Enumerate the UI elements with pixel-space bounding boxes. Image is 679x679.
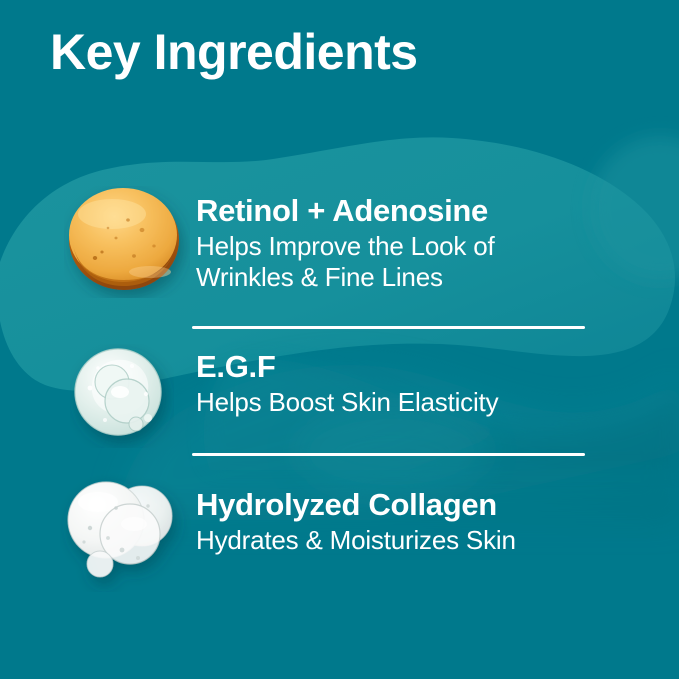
ingredient-text: Hydrolyzed Collagen Hydrates & Moisturiz… [196,488,616,556]
ingredient-text: Retinol + Adenosine Helps Improve the Lo… [196,194,616,294]
ingredient-name: E.G.F [196,350,616,385]
mint-gel-droplet-icon [70,344,174,448]
ingredient-list: Retinol + Adenosine Helps Improve the Lo… [0,0,679,679]
ingredient-description: Helps Improve the Look of Wrinkles & Fin… [196,231,616,294]
row-divider [192,453,585,456]
ingredient-text: E.G.F Helps Boost Skin Elasticity [196,350,616,418]
ingredient-description-line: Wrinkles & Fine Lines [196,262,443,292]
ingredient-swatch-clear-gel-droplet [60,472,192,597]
clear-gel-droplet-icon [60,472,192,592]
ingredient-description: Hydrates & Moisturizes Skin [196,525,616,557]
amber-gel-droplet-icon [64,186,190,298]
ingredient-swatch-amber-gel-droplet [64,186,190,303]
ingredient-name: Hydrolyzed Collagen [196,488,616,523]
ingredient-description-line: Helps Improve the Look of [196,231,495,261]
ingredient-swatch-mint-gel-droplet [70,344,174,453]
ingredient-name: Retinol + Adenosine [196,194,616,229]
ingredient-description: Helps Boost Skin Elasticity [196,387,616,419]
key-ingredients-infographic: Key Ingredients [0,0,679,679]
row-divider [192,326,585,329]
